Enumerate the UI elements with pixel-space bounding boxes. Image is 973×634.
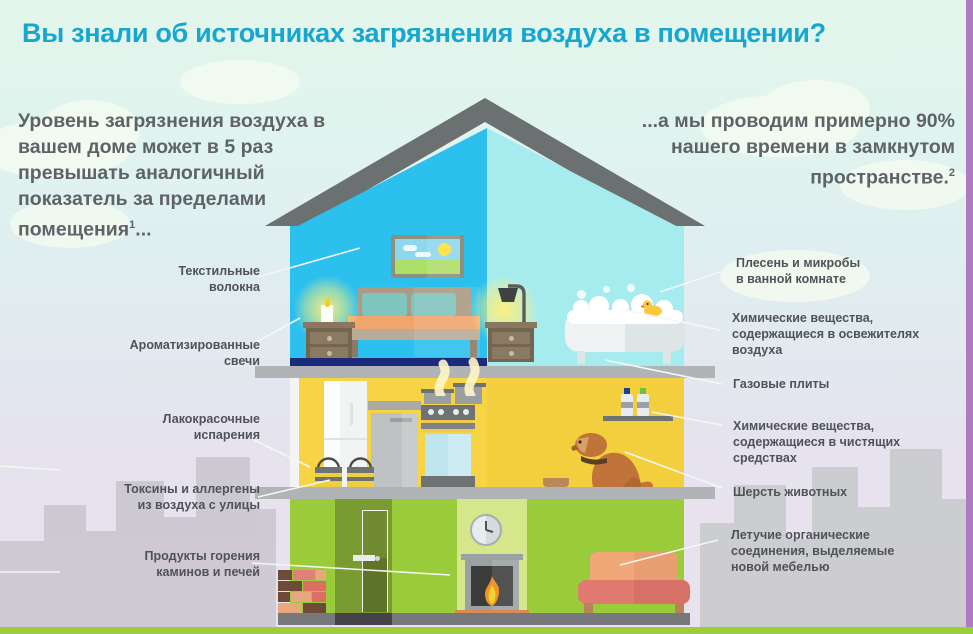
label-line-1: Продукты горения [55,548,260,564]
label-line-2: волокна [60,279,260,295]
label-line-1: Лакокрасочные [60,411,260,427]
label-cleaning-chemicals: Химические вещества, содержащиеся в чист… [733,418,969,466]
label-textile-fibers: Текстильные волокна [60,263,260,295]
label-line-2: каминов и печей [55,564,260,580]
label-line-1: Шерсть животных [733,484,963,500]
label-line-1: Летучие органические [731,527,967,543]
floor-slab-lower [255,487,715,499]
label-line-1: Газовые плиты [733,376,963,392]
kitchen-left-panel [290,378,299,493]
label-furniture-vocs: Летучие органические соединения, выделяе… [731,527,967,575]
label-paint-fumes: Лакокрасочные испарения [60,411,260,443]
paint-can-left [315,457,342,487]
label-line-1: Плесень и микробы [736,255,966,271]
label-line-2: содержащиеся в чистящих [733,434,969,450]
label-line-3: средствах [733,450,969,466]
label-line-2: в ванной комнате [736,271,966,287]
stat-left: Уровень загрязнения воздуха в вашем доме… [18,108,358,243]
infographic-canvas: Вы знали об источниках загрязнения возду… [0,0,973,634]
spray-bottle-green [637,388,649,416]
right-border-stripe [966,0,973,634]
label-line-1: Токсины и аллергены [50,481,260,497]
stat-left-suffix: ... [135,219,151,241]
stat-right-prefix: ... [642,110,658,132]
kitchen-counter [368,401,421,487]
dog [563,423,655,487]
label-line-1: Ароматизированные [60,337,260,353]
label-line-3: новой мебелью [731,559,967,575]
dog-bowl [543,478,569,487]
steam-icon [415,356,505,396]
bathtub [565,296,685,364]
label-line-2: из воздуха с улицы [50,497,260,513]
label-bathroom-mold: Плесень и микробы в ванной комнате [736,255,966,287]
label-line-2: свечи [60,353,260,369]
stat-right-footnote: 2 [949,167,955,179]
bottom-border-stripe [0,627,973,634]
spray-bottle-blue [621,388,633,416]
cleaning-shelf [603,416,673,421]
label-line-2: соединения, выделяемые [731,543,967,559]
label-line-2: испарения [60,427,260,443]
gas-stove [421,405,475,487]
label-air-freshener-chemicals: Химические вещества, содержащиеся в осве… [732,310,968,358]
label-scented-candles: Ароматизированные свечи [60,337,260,369]
brick-stack [278,570,326,616]
label-line-1: Химические вещества, [732,310,968,326]
label-line-1: Химические вещества, [733,418,969,434]
ground-baseboard-dark [335,613,392,625]
floor-lamp [490,282,530,324]
label-outdoor-toxins: Токсины и аллергены из воздуха с улицы [50,481,260,513]
paint-can-right [347,457,374,487]
wall-picture-frame [391,235,464,278]
fire-icon [481,576,503,606]
stat-left-text: Уровень загрязнения воздуха в вашем доме… [18,110,325,241]
label-fireplace-combustion: Продукты горения каминов и печей [55,548,260,580]
label-gas-stoves: Газовые плиты [733,376,963,392]
stat-right: ...а мы проводим примерно 90% нашего вре… [605,108,955,191]
label-line-1: Текстильные [60,263,260,279]
wall-clock [470,514,502,546]
candle [321,298,333,324]
label-line-3: воздуха [732,342,968,358]
label-pet-dander: Шерсть животных [733,484,963,500]
label-line-2: содержащиеся в освежителях [732,326,968,342]
fireplace [461,554,523,616]
page-title: Вы знали об источниках загрязнения возду… [22,18,952,49]
nightstand-left [305,322,353,362]
front-door [362,510,388,612]
bed [348,287,480,357]
sofa [578,552,690,616]
rubber-duck-icon [641,299,663,317]
stat-right-text: а мы проводим примерно 90% нашего времен… [658,110,955,189]
